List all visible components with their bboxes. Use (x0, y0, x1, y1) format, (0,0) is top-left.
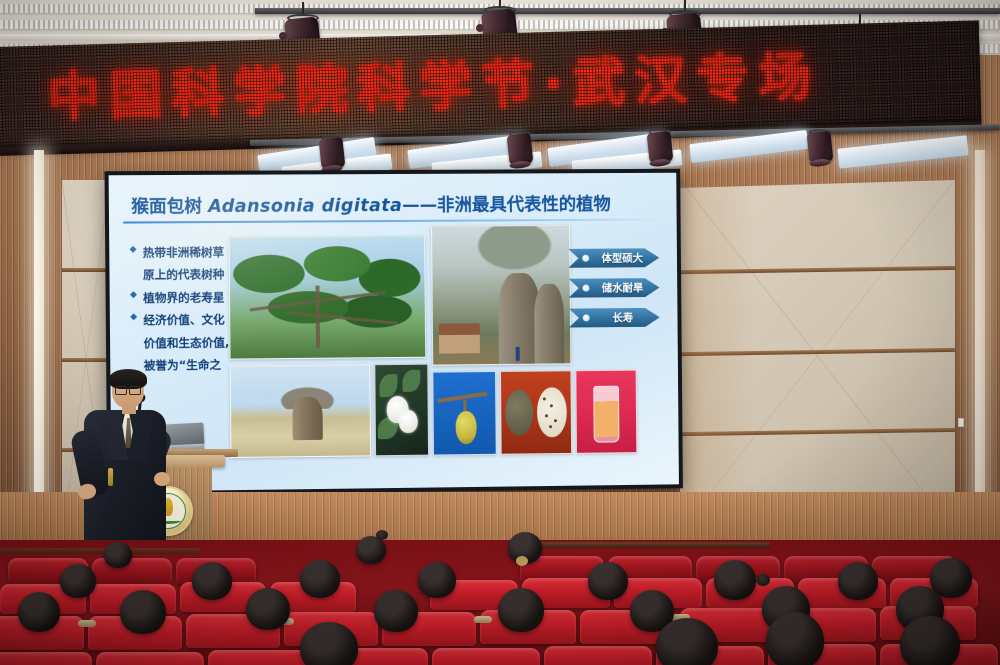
audience-head (656, 618, 718, 665)
audience-head (900, 616, 960, 665)
seat[interactable] (544, 646, 652, 665)
callout-bullet-icon (583, 314, 590, 321)
callout-label: 储水耐旱 (595, 280, 659, 295)
slide-photo-baobab-juice (575, 370, 637, 454)
slide-title-dash: —— (402, 196, 437, 216)
slide-title-scientific-name: Adansonia digitata (208, 196, 402, 217)
slide-title-underline (123, 218, 669, 223)
stage-spotlight-icon (506, 130, 534, 166)
audience-head (246, 588, 290, 630)
hair-tie (756, 574, 770, 586)
ceiling-truss-upper (255, 8, 1000, 14)
auditorium-scene: 中国科学院科学节·武汉专场 (0, 0, 1000, 665)
audience-head (18, 592, 60, 632)
acoustic-panel-right (680, 180, 955, 532)
eyeglasses-icon (115, 386, 141, 393)
audience-head (356, 536, 386, 564)
audience-head (766, 612, 824, 665)
seat[interactable] (432, 648, 540, 665)
slide-title-tail: 非洲最具代表性的植物 (437, 195, 611, 216)
audience-head (838, 562, 878, 600)
callout-bullet-icon (583, 285, 590, 292)
wall-switch-plate[interactable] (958, 418, 964, 427)
audience-seating (0, 540, 1000, 665)
audience-head (714, 560, 756, 600)
lanyard-badge (108, 468, 113, 486)
audience-head (498, 588, 544, 632)
hair-tie (376, 530, 388, 540)
slide-photo-baobab-trunk (431, 225, 571, 366)
audience-head (60, 564, 96, 598)
audience-head (418, 562, 456, 598)
seat[interactable] (96, 652, 204, 665)
slide-photo-baobab-fruit-section (500, 370, 572, 454)
wall-light-strip (34, 150, 44, 550)
audience-head (588, 562, 628, 600)
slide-photo-baobab-canopy (229, 236, 427, 360)
audience-head (192, 562, 232, 600)
callout-bullet-icon (582, 255, 589, 262)
slide-callout: 体型硕大 (568, 248, 659, 268)
slide-callout: 长寿 (569, 308, 660, 328)
audience-head (374, 590, 418, 632)
wall-light-strip (975, 150, 985, 550)
callout-label: 长寿 (596, 310, 660, 325)
slide-photo-baobab-savanna (230, 364, 371, 458)
audience-head (120, 590, 166, 634)
seat[interactable] (92, 558, 172, 584)
audience-head (300, 560, 340, 598)
slide-photo-baobab-fruit (432, 371, 496, 456)
slide-title: 猴面包树 Adansonia digitata——非洲最具代表性的植物 (131, 191, 661, 219)
seat[interactable] (0, 652, 92, 665)
stage-spotlight-icon (806, 128, 834, 164)
stage-spotlight-icon (646, 128, 674, 164)
hair-tie (516, 556, 528, 566)
slide-callout: 储水耐旱 (569, 278, 660, 298)
audience-head (300, 622, 358, 665)
slide-photo-baobab-flower (374, 364, 429, 457)
callout-label: 体型硕大 (595, 250, 659, 265)
audience-head (104, 542, 132, 568)
slide-title-cn: 猴面包树 (131, 197, 202, 218)
stage-spotlight-icon (318, 134, 346, 170)
